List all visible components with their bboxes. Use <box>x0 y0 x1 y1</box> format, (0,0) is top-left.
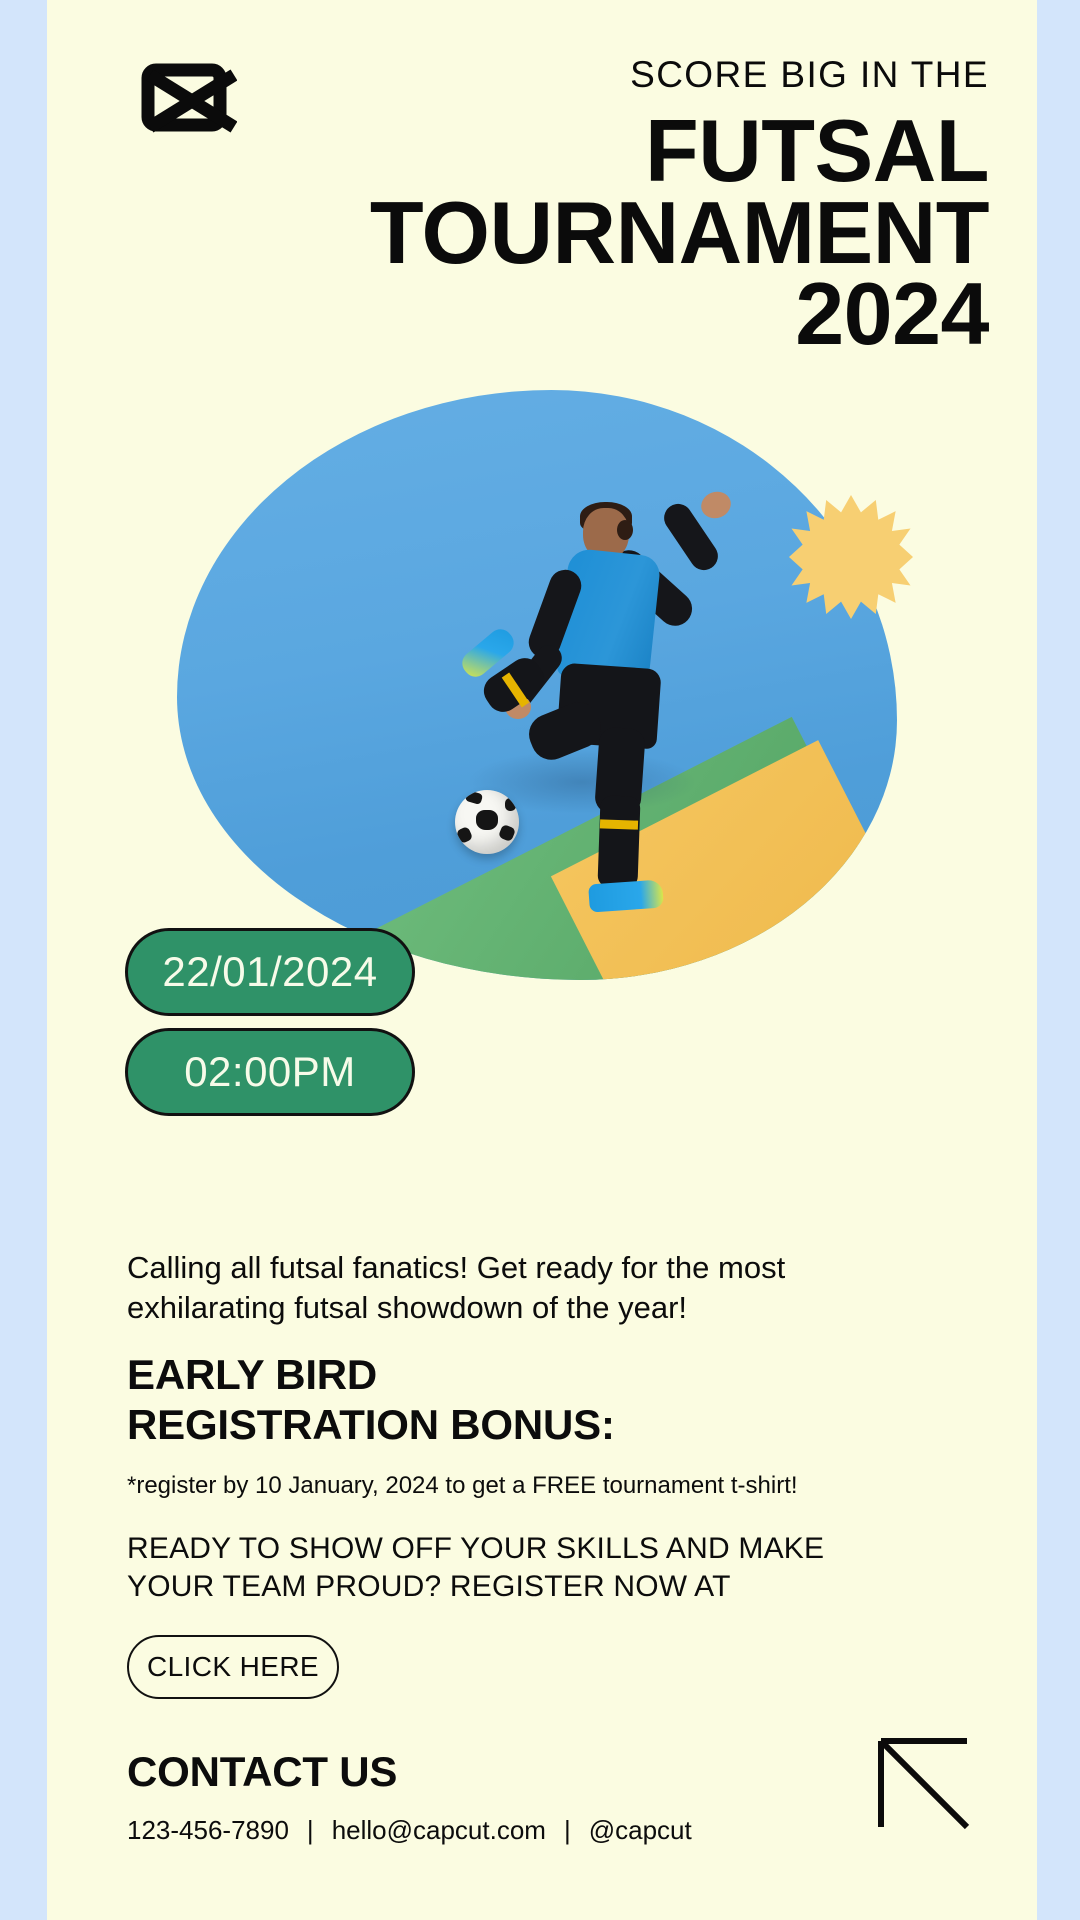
arrow-up-left-icon <box>875 1735 985 1845</box>
cta-paragraph: READY TO SHOW OFF YOUR SKILLS AND MAKE Y… <box>127 1530 827 1605</box>
futsal-player-figure <box>477 490 757 910</box>
contact-title: CONTACT US <box>127 1748 397 1796</box>
contact-handle[interactable]: @capcut <box>589 1815 692 1846</box>
cta-paragraph-line-2: YOUR TEAM PROUD? REGISTER NOW AT <box>127 1568 827 1606</box>
headline-block: SCORE BIG IN THE FUTSAL TOURNAMENT 2024 <box>229 55 989 355</box>
early-bird-heading-line-2: REGISTRATION BONUS: <box>127 1400 827 1450</box>
title-line-3: 2024 <box>229 273 989 355</box>
early-bird-note: *register by 10 January, 2024 to get a F… <box>127 1472 827 1500</box>
contact-details: 123-456-7890 | hello@capcut.com | @capcu… <box>127 1815 692 1846</box>
early-bird-heading: EARLY BIRD REGISTRATION BONUS: <box>127 1350 827 1449</box>
event-date-badge: 22/01/2024 <box>125 928 415 1016</box>
contact-separator-2: | <box>564 1815 571 1846</box>
contact-email[interactable]: hello@capcut.com <box>332 1815 546 1846</box>
title-line-2: TOURNAMENT <box>229 192 989 274</box>
contact-phone[interactable]: 123-456-7890 <box>127 1815 289 1846</box>
click-here-button[interactable]: CLICK HERE <box>127 1635 339 1699</box>
poster-canvas: SCORE BIG IN THE FUTSAL TOURNAMENT 2024 <box>47 0 1037 1920</box>
starburst-icon <box>789 495 913 619</box>
photo-blob-mask <box>177 390 897 980</box>
title-line-1: FUTSAL <box>229 110 989 192</box>
intro-paragraph: Calling all futsal fanatics! Get ready f… <box>127 1248 787 1327</box>
hero-photo <box>177 390 897 980</box>
early-bird-heading-line-1: EARLY BIRD <box>127 1350 827 1400</box>
event-time-badge: 02:00PM <box>125 1028 415 1116</box>
capcut-logo <box>132 55 237 145</box>
contact-separator-1: | <box>307 1815 314 1846</box>
kicker-text: SCORE BIG IN THE <box>229 55 989 96</box>
futsal-ball <box>455 790 519 854</box>
cta-paragraph-line-1: READY TO SHOW OFF YOUR SKILLS AND MAKE <box>127 1530 827 1568</box>
